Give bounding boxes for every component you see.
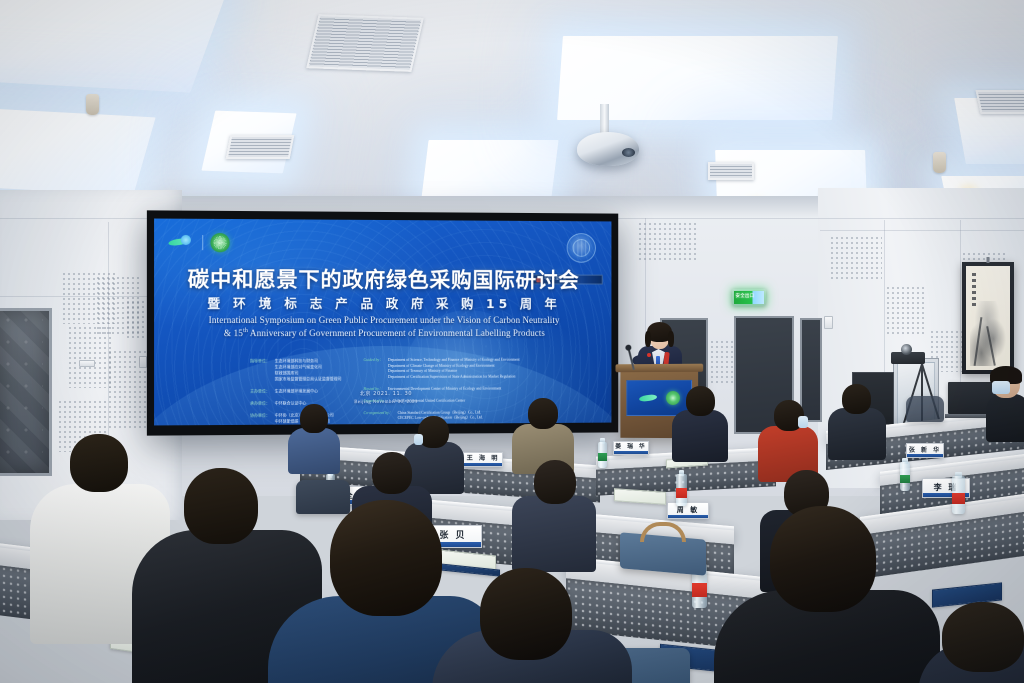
- slide-title-english: International Symposium on Green Public …: [154, 314, 611, 340]
- audience-member: [512, 398, 574, 468]
- ceiling-light-panel: [421, 140, 558, 198]
- bottle-label: [598, 453, 607, 461]
- credit-label: 指导单位：: [250, 358, 270, 364]
- bottle-label: [692, 583, 707, 596]
- name-placard-text: 姜 瑞 华: [615, 445, 646, 451]
- name-placard: 张 新 华: [906, 443, 944, 458]
- credit-label: Co-organized by：: [364, 411, 393, 417]
- wall-switch-plate[interactable]: [139, 356, 147, 368]
- person-torso: [986, 394, 1024, 442]
- person-head: [300, 404, 328, 433]
- slide-title-chinese: 碳中和愿景下的政府绿色采购国际研讨会: [154, 263, 611, 294]
- bottle-body: [676, 474, 687, 506]
- ministry-logo-icon: [168, 234, 195, 251]
- audience-member: [288, 404, 340, 470]
- bottle-label: [952, 493, 965, 504]
- wall-tile-seam: [0, 296, 150, 297]
- person-head: [480, 568, 572, 660]
- audience-member-foreground: [918, 602, 1024, 683]
- person-torso: [828, 408, 886, 460]
- bottle-label: [676, 488, 687, 498]
- logo-divider: [202, 235, 203, 250]
- wall-switch-plate[interactable]: [79, 360, 95, 367]
- credit-label: 协办单位：: [250, 413, 270, 419]
- credit-label: Guided by：: [364, 358, 384, 364]
- audience-member-foreground: [714, 506, 940, 683]
- audience-member: [512, 460, 596, 564]
- line2-post: Anniversary of Government Procurement of…: [248, 328, 545, 338]
- projector-lens: [622, 148, 635, 157]
- speaker-hair: [647, 322, 672, 342]
- acoustic-wall-panel: [68, 326, 112, 388]
- wall-switch-plate[interactable]: [824, 316, 833, 329]
- face-mask: [414, 434, 423, 445]
- ceiling-light-panel: [0, 0, 225, 93]
- credit-line: Department of Certification Supervision …: [388, 375, 520, 381]
- person-head: [942, 602, 1024, 672]
- water-bottle: [952, 472, 965, 514]
- bottle-body: [952, 476, 965, 514]
- audience-member-masked: [986, 368, 1024, 434]
- smoke-detector: [86, 94, 99, 115]
- credit-line: 国家市场监督管理总局认证监督管理司: [275, 376, 342, 382]
- ceiling-air-vent: [708, 162, 754, 180]
- exit-sign-label: 安全出口: [734, 295, 754, 299]
- water-bottle: [900, 458, 910, 491]
- face-mask: [992, 381, 1010, 394]
- person-head: [528, 398, 558, 429]
- name-placard-text: 王 海 明: [467, 456, 500, 462]
- slide-logo-group: [168, 233, 229, 253]
- credit-value: 生态环境部科技与财务司生态环境部应对气候变化司财政部国库司国家市场监督管理总局认…: [275, 358, 342, 382]
- anniversary-emblem-icon: [567, 233, 596, 263]
- bottle-body: [900, 462, 910, 491]
- slide-title-english-line2: & 15th Anniversary of Government Procure…: [168, 327, 597, 340]
- ceiling-air-vent: [226, 135, 295, 159]
- credit-row: 指导单位：生态环境部科技与财务司生态环境部应对气候变化司财政部国库司国家市场监督…: [250, 358, 341, 383]
- person-head: [770, 506, 876, 612]
- exit-sign-face: 安全出口: [734, 291, 764, 304]
- smoke-detector: [933, 152, 946, 173]
- camera-lens: [901, 344, 912, 355]
- emergency-exit-sign: 安全出口: [732, 289, 766, 306]
- person-head: [372, 452, 412, 494]
- name-placard-text: 张 新 华: [909, 448, 941, 454]
- credit-value: Department of Science, Technology and Fi…: [388, 358, 520, 381]
- bottle-label: [900, 475, 910, 484]
- name-placard-text: 周 敏: [677, 507, 699, 514]
- scroll-ink-branches: [970, 301, 1007, 365]
- name-placard: 周 敏: [667, 502, 709, 519]
- document-folder: [614, 488, 666, 505]
- ceiling-air-vent: [306, 14, 424, 72]
- audience-member: [828, 384, 886, 454]
- china-environmental-label-logo-icon: [210, 233, 229, 252]
- audience-member-foreground: [432, 568, 632, 683]
- slide-title-english-line1: International Symposium on Green Public …: [168, 314, 597, 327]
- scroll-hanging-rod: [987, 257, 990, 263]
- scroll-paper: [966, 266, 1010, 370]
- name-placard: 王 海 明: [463, 452, 503, 467]
- credit-row: Guided by：Department of Science, Technol…: [364, 358, 520, 381]
- person-torso: [512, 496, 596, 572]
- projection-screen: 中国环境标志 碳中和愿景下的政府绿色采购国际研讨会 暨 环 境 标 志 产 品 …: [154, 219, 611, 426]
- acoustic-wall-panel: [886, 286, 926, 336]
- acoustic-wall-panel: [638, 222, 696, 260]
- person-head: [330, 500, 442, 616]
- podium-logo-icon: [639, 391, 661, 405]
- conference-room-photo: 安全出口: [0, 0, 1024, 683]
- water-bottle: [676, 470, 687, 506]
- line2-pre: & 15: [224, 328, 243, 338]
- audience-member: [758, 400, 818, 476]
- face-mask: [798, 416, 808, 428]
- person-head: [70, 434, 128, 492]
- ink-wash-scroll-painting: [962, 262, 1014, 374]
- name-placard: 姜 瑞 华: [613, 441, 649, 455]
- ceiling-air-vent: [975, 90, 1024, 114]
- ceiling-light-panel: [0, 107, 156, 196]
- person-head: [686, 386, 715, 416]
- person-head: [184, 468, 258, 544]
- wall-tile-seam: [820, 230, 1024, 231]
- podium-top-surface: [616, 364, 704, 373]
- chair-back[interactable]: [906, 396, 944, 422]
- person-head: [534, 460, 576, 504]
- bottle-body: [598, 442, 607, 468]
- speaker-lapel-pin: [647, 353, 651, 357]
- person-head: [842, 384, 871, 414]
- acoustic-wall-panel: [830, 236, 882, 282]
- slide-subtitle-chinese: 暨 环 境 标 志 产 品 政 府 采 购 15 周 年: [154, 293, 611, 313]
- person-torso: [672, 410, 728, 462]
- audience-member: [672, 386, 728, 456]
- speaker-hair-side: [668, 331, 674, 347]
- water-bottle: [598, 438, 607, 468]
